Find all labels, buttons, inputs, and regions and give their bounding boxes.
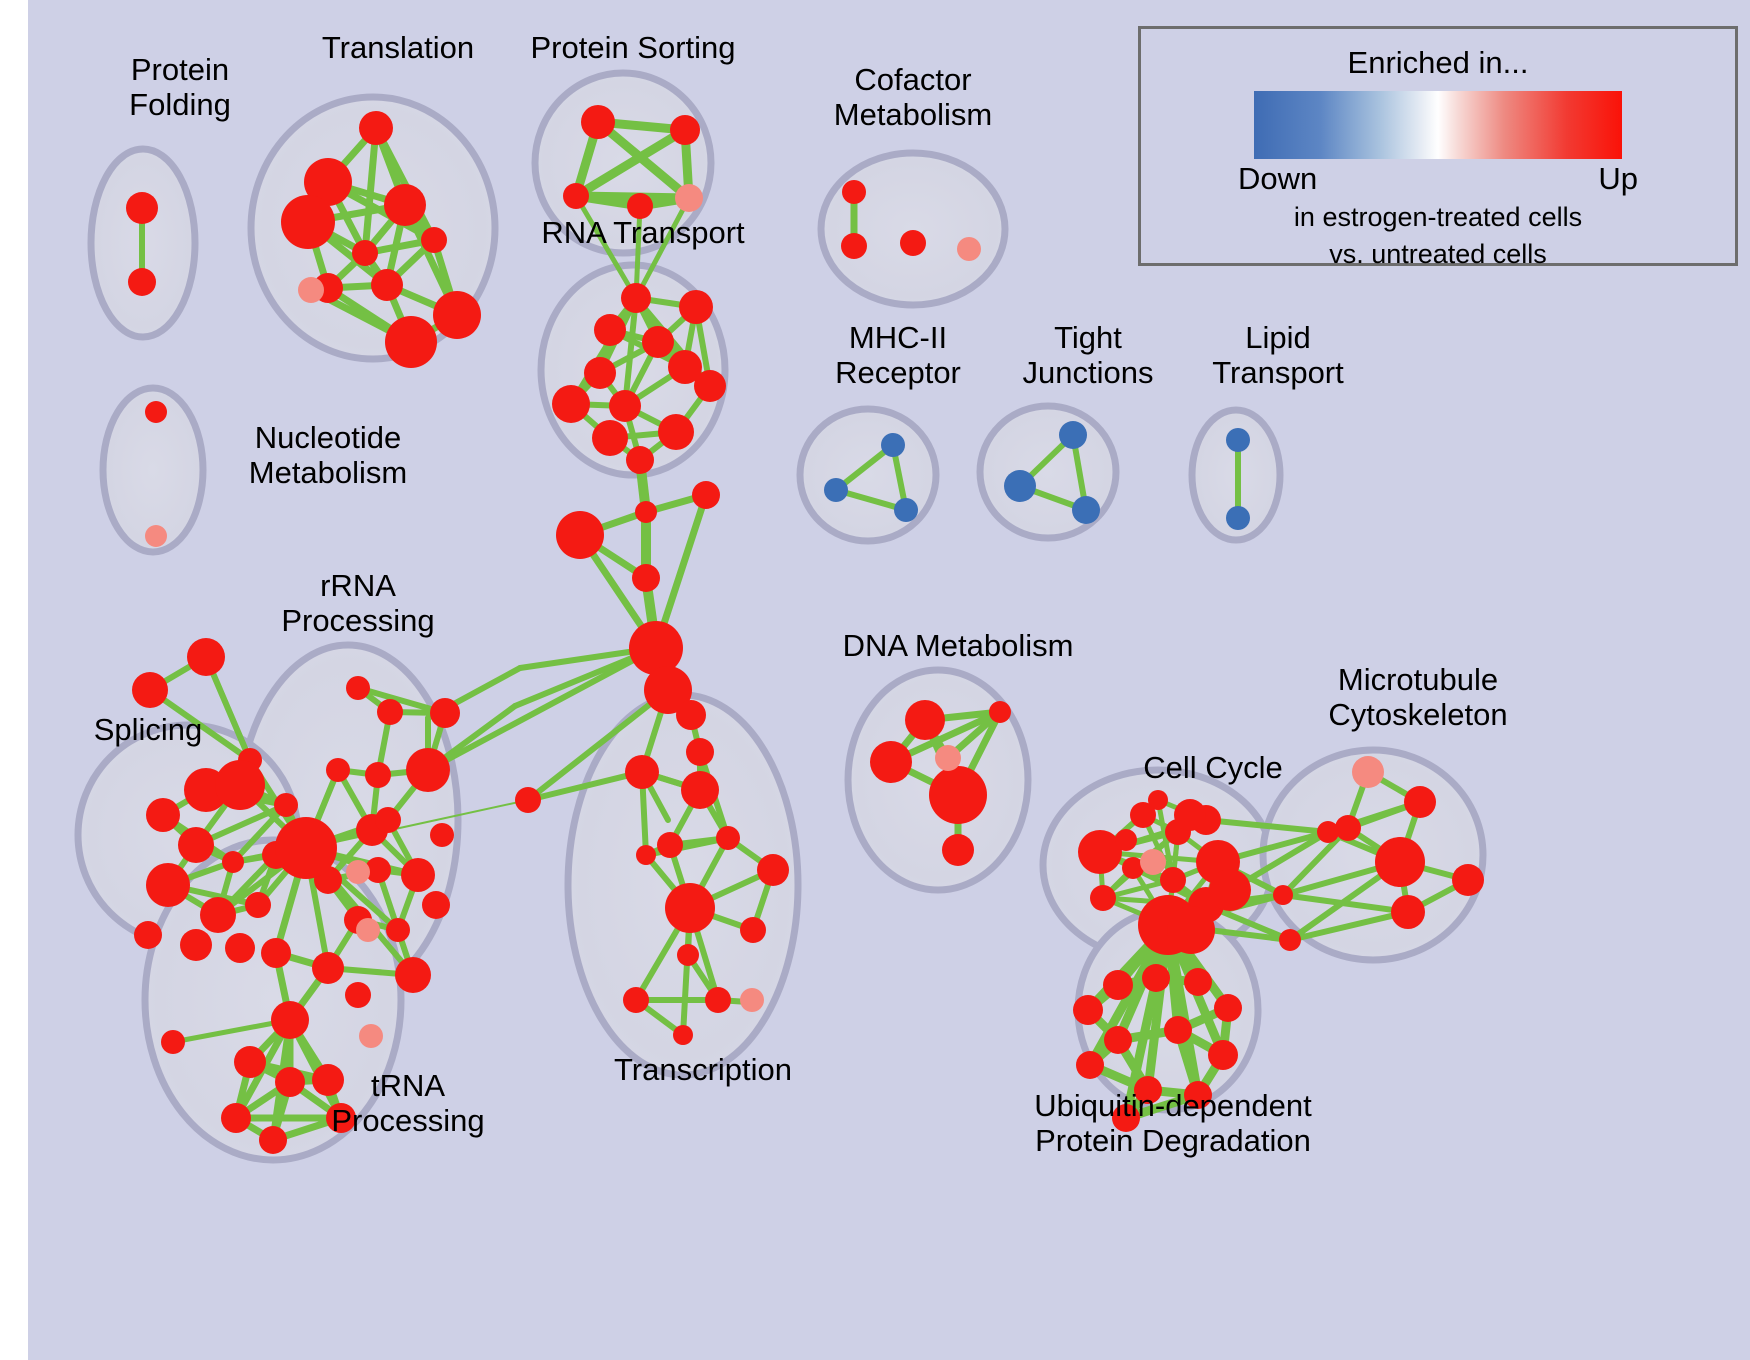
node: [681, 771, 719, 809]
legend-colorbar: [1254, 91, 1622, 159]
node: [371, 269, 403, 301]
node: [126, 192, 158, 224]
node: [430, 698, 460, 728]
node: [312, 952, 344, 984]
cluster-label-mhc-ii-receptor: MHC-IIReceptor: [788, 320, 1008, 390]
legend-colorbar-labels: Down Up: [1238, 161, 1638, 197]
node: [406, 748, 450, 792]
node: [842, 180, 866, 204]
node: [1103, 970, 1133, 1000]
node: [345, 982, 371, 1008]
node: [384, 184, 426, 226]
node: [592, 420, 628, 456]
node: [626, 446, 654, 474]
node: [515, 787, 541, 813]
node: [356, 918, 380, 942]
node: [346, 860, 370, 884]
node: [935, 745, 961, 771]
cluster-label-nucleotide-metabolism: NucleotideMetabolism: [198, 420, 458, 490]
node: [261, 938, 291, 968]
node: [225, 933, 255, 963]
node: [433, 291, 481, 339]
node: [657, 832, 683, 858]
node: [563, 183, 589, 209]
node: [757, 854, 789, 886]
node: [1226, 506, 1250, 530]
hull-cofactor-metabolism: [821, 153, 1005, 305]
network-canvas: ProteinFolding Translation Protein Sorti…: [28, 0, 1750, 1360]
node: [679, 290, 713, 324]
node: [665, 883, 715, 933]
node: [1279, 929, 1301, 951]
node: [740, 917, 766, 943]
cluster-label-rna-transport: RNA Transport: [498, 215, 788, 250]
legend-panel: Enriched in... Down Up in estrogen-treat…: [1138, 26, 1738, 266]
node: [1090, 885, 1116, 911]
node: [298, 277, 324, 303]
node: [881, 433, 905, 457]
node: [128, 268, 156, 296]
legend-caption-line2: vs. untreated cells: [1141, 238, 1735, 271]
node: [740, 988, 764, 1012]
node: [716, 826, 740, 850]
node: [145, 401, 167, 423]
node: [676, 700, 706, 730]
node: [1140, 849, 1166, 875]
node: [625, 755, 659, 789]
node: [1214, 994, 1242, 1022]
node: [1226, 428, 1250, 452]
node: [187, 638, 225, 676]
node: [1391, 895, 1425, 929]
node: [326, 758, 350, 782]
cluster-label-cell-cycle: Cell Cycle: [1103, 750, 1323, 785]
node: [621, 283, 651, 313]
node: [274, 793, 298, 817]
node: [675, 184, 703, 212]
node: [1115, 829, 1137, 851]
node: [1164, 1016, 1192, 1044]
node: [377, 699, 403, 725]
cluster-label-microtubule-cytoskeleton: MicrotubuleCytoskeleton: [1293, 662, 1543, 732]
node: [146, 798, 180, 832]
node: [989, 701, 1011, 723]
node: [1335, 815, 1361, 841]
node: [221, 1103, 251, 1133]
node: [635, 501, 657, 523]
node: [180, 929, 212, 961]
cluster-label-splicing: Splicing: [58, 712, 238, 747]
node: [1072, 496, 1100, 524]
node: [132, 672, 168, 708]
node: [146, 863, 190, 907]
legend-caption-line1: in estrogen-treated cells: [1141, 201, 1735, 234]
node: [692, 481, 720, 509]
node: [1078, 830, 1122, 874]
node: [245, 892, 271, 918]
node: [178, 827, 214, 863]
node: [905, 700, 945, 740]
node: [430, 823, 454, 847]
node: [894, 498, 918, 522]
cluster-label-ubiquitin-dependent-protein-degradation: Ubiquitin-dependentProtein Degradation: [973, 1088, 1373, 1158]
cluster-label-protein-folding: ProteinFolding: [80, 52, 280, 122]
node: [200, 897, 236, 933]
node: [670, 115, 700, 145]
node: [395, 957, 431, 993]
figure-root: ProteinFolding Translation Protein Sorti…: [0, 0, 1750, 1360]
node: [222, 851, 244, 873]
node: [359, 1024, 383, 1048]
node: [686, 738, 714, 766]
node: [281, 195, 335, 249]
node: [1104, 1026, 1132, 1054]
node: [636, 845, 656, 865]
node: [581, 105, 615, 139]
node: [1059, 421, 1087, 449]
node: [1073, 995, 1103, 1025]
node: [275, 817, 337, 879]
node: [705, 987, 731, 1013]
node: [401, 858, 435, 892]
node: [1317, 821, 1339, 843]
node: [271, 1001, 309, 1039]
node: [929, 766, 987, 824]
node: [352, 240, 378, 266]
hull-mhc-ii-receptor: [800, 409, 936, 541]
node: [365, 762, 391, 788]
legend-high-label: Up: [1598, 161, 1638, 197]
node: [677, 944, 699, 966]
node: [1174, 799, 1206, 831]
cluster-label-protein-sorting: Protein Sorting: [488, 30, 778, 65]
node: [870, 741, 912, 783]
node: [161, 1030, 185, 1054]
node: [584, 357, 616, 389]
node: [145, 525, 167, 547]
node: [694, 370, 726, 402]
node: [1004, 470, 1036, 502]
node: [346, 676, 370, 700]
node: [1273, 885, 1293, 905]
node: [1167, 906, 1215, 954]
legend-title: Enriched in...: [1141, 45, 1735, 81]
node: [623, 987, 649, 1013]
node: [594, 314, 626, 346]
cluster-label-tight-junctions: TightJunctions: [978, 320, 1198, 390]
cluster-label-dna-metabolism: DNA Metabolism: [818, 628, 1098, 663]
node: [1452, 864, 1484, 896]
node: [1148, 790, 1168, 810]
node: [824, 478, 848, 502]
node: [900, 230, 926, 256]
node: [375, 807, 401, 833]
node: [1208, 1040, 1238, 1070]
cluster-label-lipid-transport: LipidTransport: [1168, 320, 1388, 390]
cluster-label-rrna-processing: rRNAProcessing: [248, 568, 468, 638]
node: [1142, 964, 1170, 992]
legend-low-label: Down: [1238, 161, 1317, 197]
node: [642, 326, 674, 358]
node: [385, 316, 437, 368]
node: [632, 564, 660, 592]
node: [629, 621, 683, 675]
node: [673, 1025, 693, 1045]
node: [386, 918, 410, 942]
cluster-label-transcription: Transcription: [573, 1052, 833, 1087]
node: [422, 891, 450, 919]
node: [957, 237, 981, 261]
node: [1209, 869, 1251, 911]
node: [1160, 867, 1186, 893]
node: [609, 390, 641, 422]
node: [359, 111, 393, 145]
node: [259, 1126, 287, 1154]
node: [552, 385, 590, 423]
node: [556, 511, 604, 559]
node: [1076, 1051, 1104, 1079]
node: [942, 834, 974, 866]
cluster-label-trna-processing: tRNAProcessing: [298, 1068, 518, 1138]
node: [841, 233, 867, 259]
node: [421, 227, 447, 253]
cluster-label-translation: Translation: [278, 30, 518, 65]
node: [1404, 786, 1436, 818]
node: [1184, 968, 1212, 996]
node: [1352, 756, 1384, 788]
cluster-label-cofactor-metabolism: CofactorMetabolism: [788, 62, 1038, 132]
node: [1375, 837, 1425, 887]
node: [215, 760, 265, 810]
node: [658, 414, 694, 450]
node: [134, 921, 162, 949]
node: [234, 1046, 266, 1078]
